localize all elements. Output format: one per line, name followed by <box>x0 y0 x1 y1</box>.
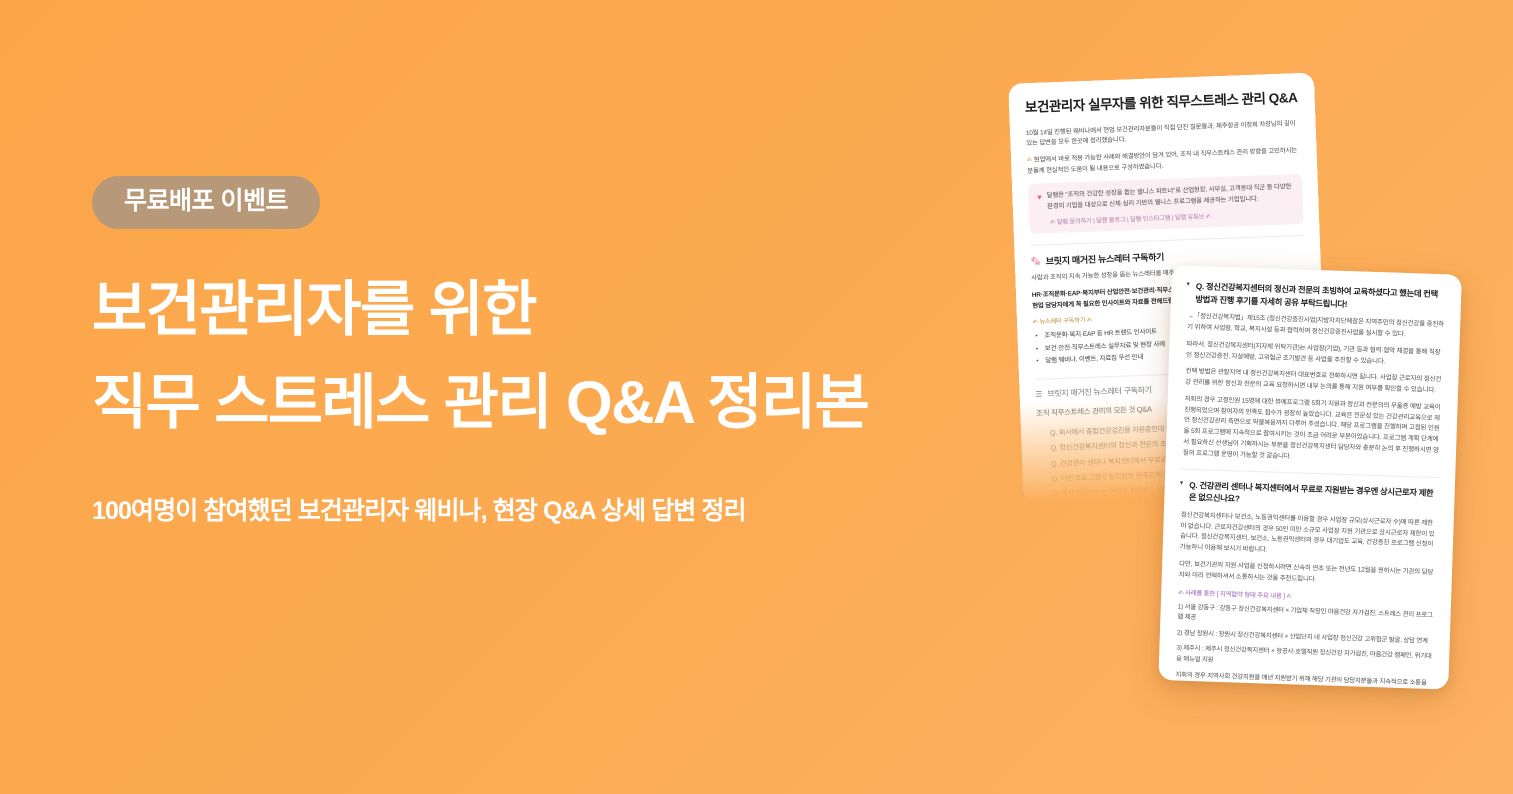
card-one-title: 보건관리자 실무자를 위한 직무스트레스 관리 Q&A <box>1025 89 1299 118</box>
promo-banner: 무료배포 이벤트 보건관리자를 위한 직무 스트레스 관리 Q&A 정리본 10… <box>0 0 1513 794</box>
qa-closing-paragraph: 지회의 경우 지역사회 건강지원을 매년 지원받기 위해 해당 기관의 담당자분… <box>1171 670 1433 690</box>
heart-icon: ♥ <box>1037 192 1042 203</box>
qa-paragraph: 컨택 방법은 관할지역 내 정신건강복지센터 대표번호로 전화하시면 됩니다. … <box>1182 367 1443 397</box>
qa-question-row[interactable]: ▼ Q. 정신건강복지센터의 정신과 전문의 초빙하여 교육하셨다고 했는데 컨… <box>1185 280 1446 314</box>
qa-paragraph: →「정신건강복지법」제15조 (정신건강증진사업)지방자치단체장은 지역주민의 … <box>1184 312 1445 342</box>
company-callout-text: 달램은 "조직의 건강한 성장을 돕는 웰니스 파트너"로 산업현장, 사무실,… <box>1047 182 1294 212</box>
chevron-down-icon[interactable]: ▼ <box>1185 280 1191 291</box>
list-item: 3) 제주시 : 제주시 정신건강복지센터 × 항공사·호텔직원 정신건강 자가… <box>1176 644 1434 674</box>
divider <box>1179 468 1439 478</box>
qa-item: ▼ Q. 정신건강복지센터의 정신과 전문의 초빙하여 교육하셨다고 했는데 컨… <box>1180 280 1446 468</box>
card-one-intro-2-text: 현업에서 바로 적용 가능한 사례와 해결방안이 담겨 있어, 조직 내 직무스… <box>1027 147 1297 174</box>
company-callout: ♥ 달램은 "조직의 건강한 성장을 돕는 웰니스 파트너"로 산업현장, 사무… <box>1028 174 1304 234</box>
case-study-list: 1) 서울 강동구 : 강동구 정신건강복지센터 × 기업체 직장인 마음건강 … <box>1176 602 1435 674</box>
qa-paragraph: 다만, 보건기관의 지원 사업을 신청하시려면 신속히 연초 또는 전년도 12… <box>1176 559 1437 589</box>
document-preview-stack: 보건관리자 실무자를 위한 직무스트레스 관리 Q&A 10월 14일 진행된 … <box>0 0 1513 794</box>
newspaper-icon: 🗞 <box>1030 256 1040 265</box>
qa-item: ▼ Q. 건강관리 센터나 복지센터에서 무료로 지원받는 경우엔 상시근로자 … <box>1171 478 1439 689</box>
qa-question-text: Q. 건강관리 센터나 복지센터에서 무료로 지원받는 경우엔 상시근로자 제한… <box>1189 478 1439 511</box>
card-one-intro-1: 10월 14일 진행된 웨비나에서 현업 보건관리자분들이 직접 던진 질문들과… <box>1026 119 1301 150</box>
case-study-link[interactable]: ✍ 사례를 통한 [ 지역협약 형태 주요 내용 ] ✍ <box>1178 587 1435 605</box>
newsletter-section-header: 🗞 브릿지 매거진 뉴스레터 구독하기 <box>1030 235 1305 268</box>
qa-paragraph: 따라서, 정신건강복지센터(지자체 위탁기관)는 사업장(기업), 기관 등과 … <box>1183 339 1444 369</box>
pen-icon: ✍ <box>1027 157 1032 164</box>
qa-question-text: Q. 정신건강복지센터의 정신과 전문의 초빙하여 교육하셨다고 했는데 컨택 … <box>1195 280 1445 313</box>
qa-paragraph: 정신건강복지센터나 보건소, 노동권익센터를 이용할 경우 사업장 규모(상시근… <box>1177 510 1438 562</box>
toc-heading: 브릿지 매거진 뉴스레터 구독하기 <box>1047 385 1152 400</box>
newsletter-heading: 브릿지 매거진 뉴스레터 구독하기 <box>1046 250 1165 267</box>
card-one-intro-2: ✍ 현업에서 바로 적용 가능한 사례와 해결방안이 담겨 있어, 조직 내 직… <box>1027 146 1302 177</box>
document-card-qa-detail: ▼ Q. 정신건강복지센터의 정신과 전문의 초빙하여 교육하셨다고 했는데 컨… <box>1158 265 1462 689</box>
qa-question-row[interactable]: ▼ Q. 건강관리 센터나 복지센터에서 무료로 지원받는 경우엔 상시근로자 … <box>1178 478 1439 512</box>
qa-paragraph: 지회의 경우 고정인원 15명에 대한 뷰예프로그램 5회기 지원과 정신과 전… <box>1180 394 1442 467</box>
chevron-down-icon[interactable]: ▼ <box>1179 478 1185 489</box>
list-icon: ☰ <box>1035 390 1042 399</box>
list-item: 1) 서울 강동구 : 강동구 정신건강복지센터 × 기업체 직장인 마음건강 … <box>1177 602 1435 632</box>
